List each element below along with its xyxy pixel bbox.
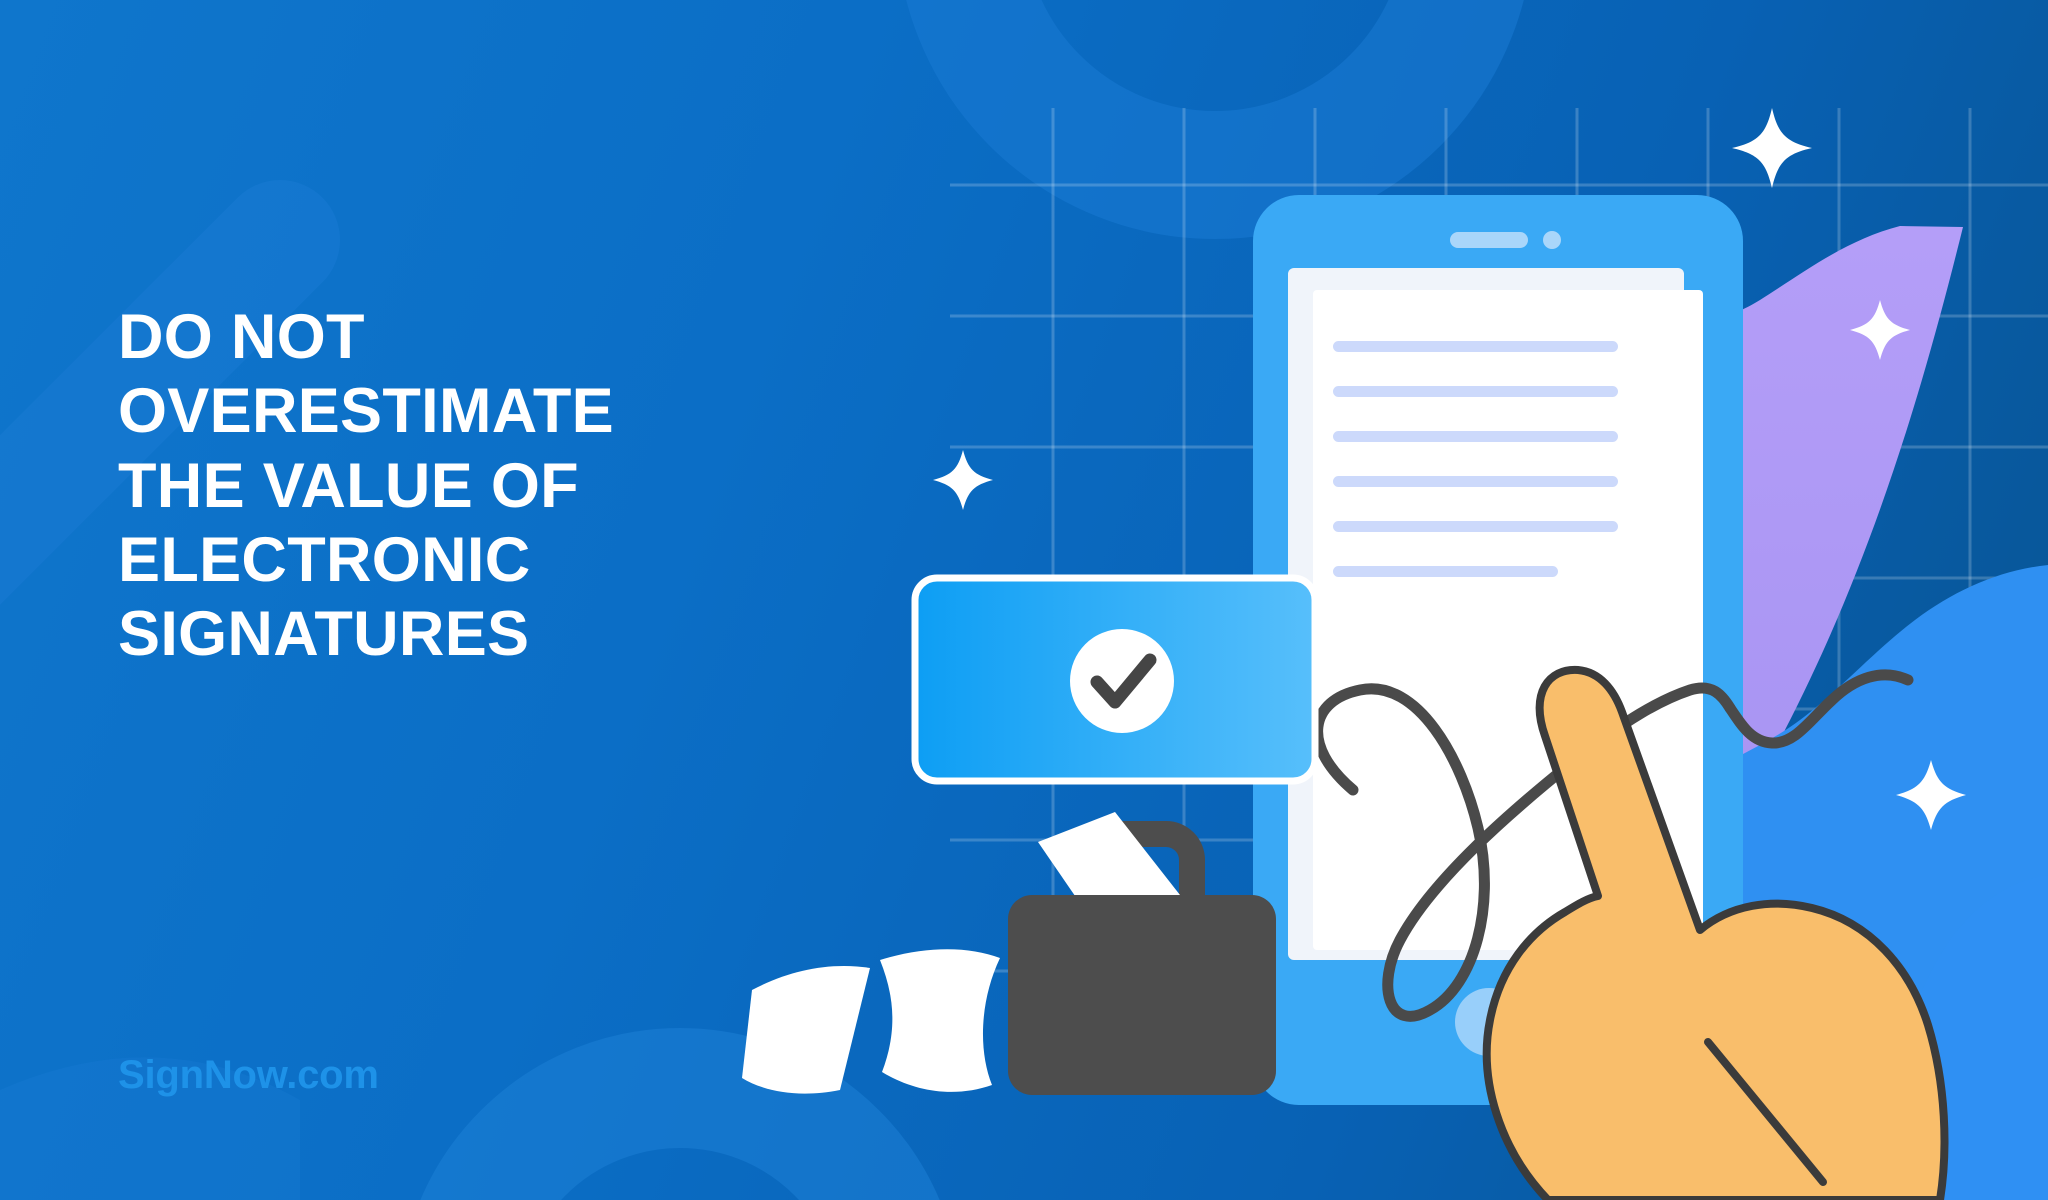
- headline-line-3: THE VALUE OF: [118, 449, 758, 523]
- headline-line-5: SIGNATURES: [118, 597, 758, 671]
- page-title: DO NOT OVERESTIMATE THE VALUE OF ELECTRO…: [118, 300, 758, 672]
- brand-logo[interactable]: SignNow.com: [118, 1053, 379, 1098]
- sparkle-icon: [1850, 300, 1910, 360]
- sparkle-icon: [1732, 108, 1812, 188]
- sparkle-icon: [933, 450, 993, 510]
- headline-line-4: ELECTRONIC: [118, 523, 758, 597]
- promo-banner: DO NOT OVERESTIMATE THE VALUE OF ELECTRO…: [0, 0, 2048, 1200]
- headline-line-2: OVERESTIMATE: [118, 374, 758, 448]
- headline-line-1: DO NOT: [118, 300, 758, 374]
- sparkle-icon: [1896, 760, 1966, 830]
